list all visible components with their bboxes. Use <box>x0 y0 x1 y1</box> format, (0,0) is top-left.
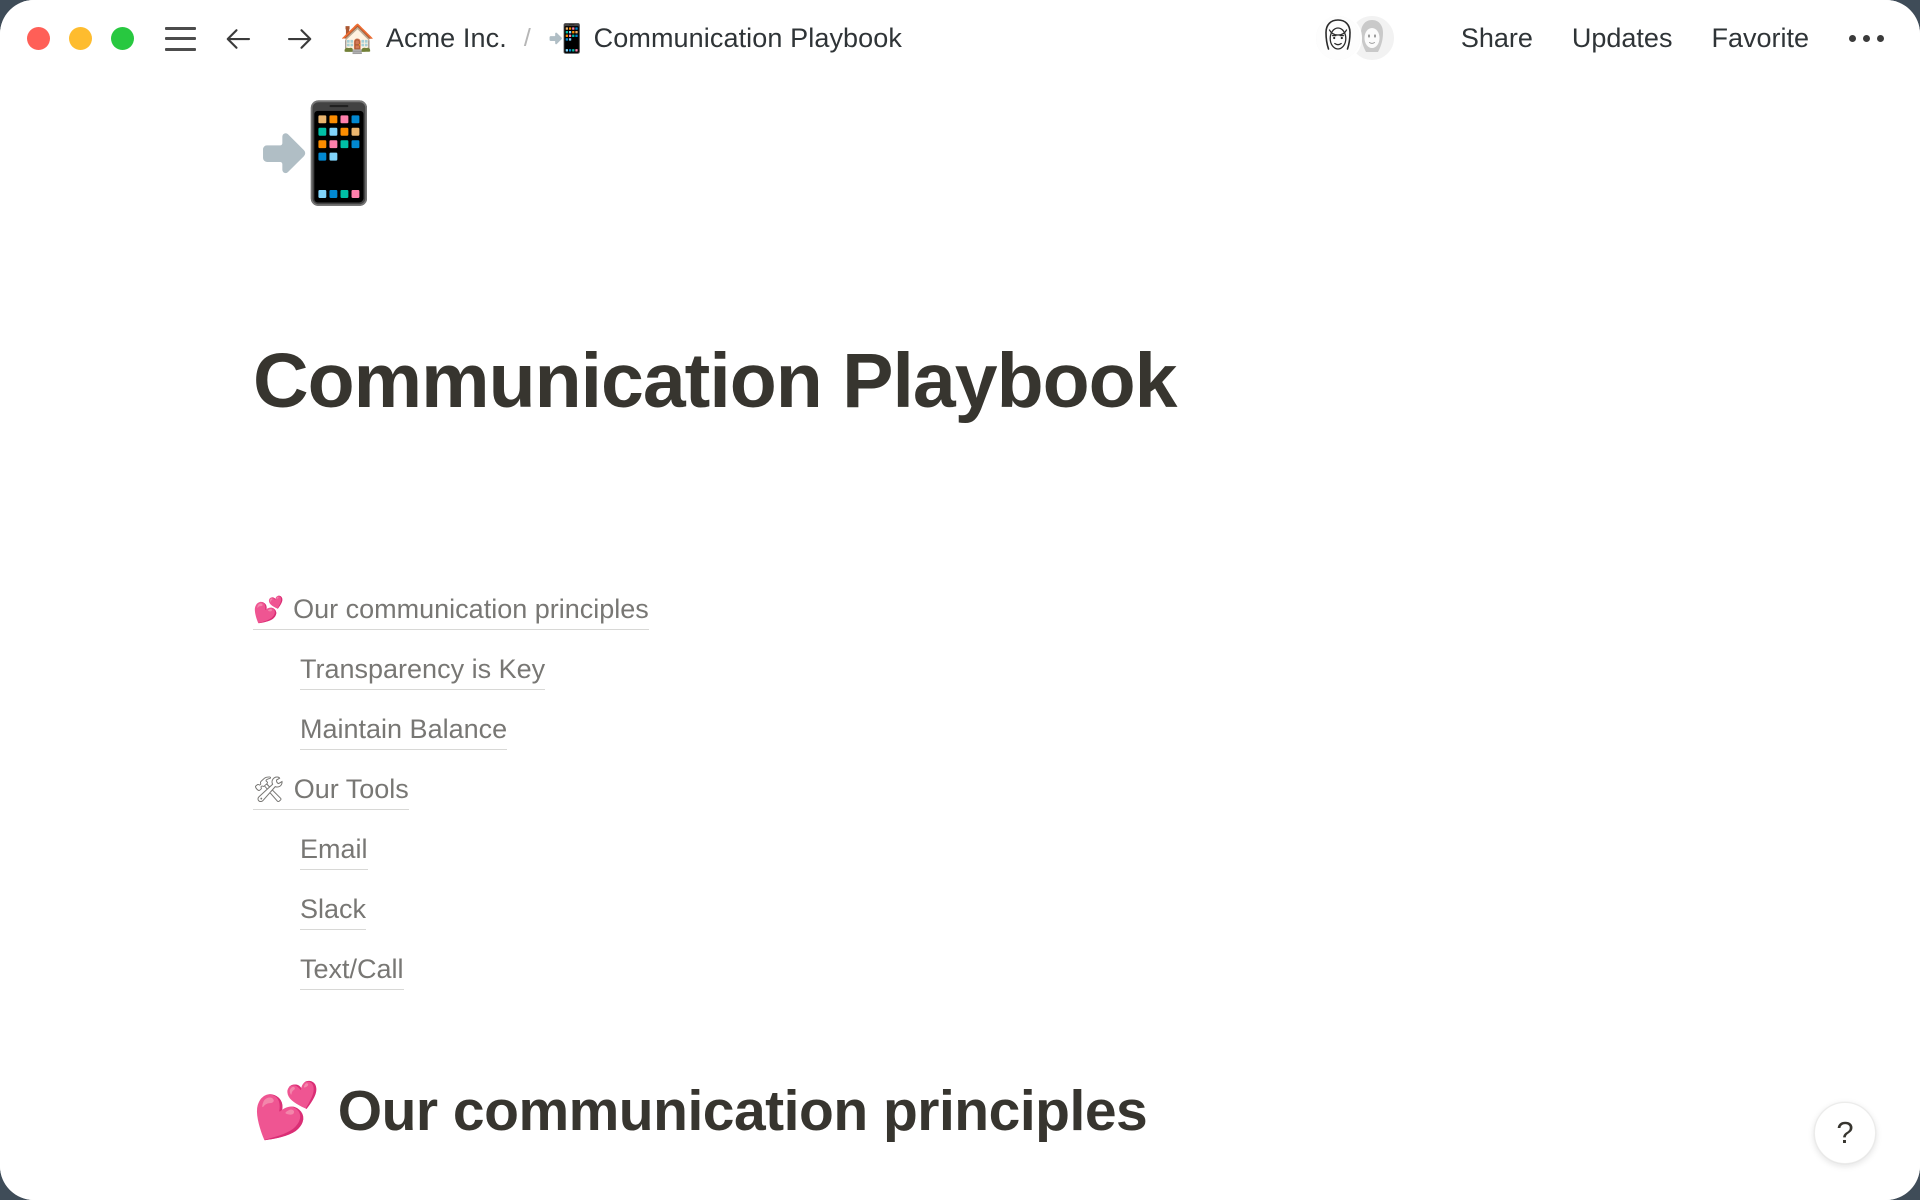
hammer-and-wrench-emoji: 🛠 <box>253 777 285 802</box>
help-button[interactable]: ? <box>1814 1102 1876 1164</box>
two-hearts-emoji: 💕 <box>253 1084 320 1138</box>
breadcrumb-label-page: Communication Playbook <box>594 23 902 54</box>
app-window: 🏠 Acme Inc. / 📲 Communication Playbook <box>0 0 1920 1200</box>
page-content: 📲 Communication Playbook 💕 Our communica… <box>0 77 1920 1200</box>
breadcrumb-label-workspace: Acme Inc. <box>386 23 507 54</box>
more-options-icon[interactable] <box>1847 27 1886 50</box>
list-item: Maintain Balance <box>253 702 1153 762</box>
updates-button[interactable]: Updates <box>1568 17 1677 60</box>
list-item: Transparency is Key <box>253 642 1153 702</box>
list-item: 🛠 Our Tools <box>253 762 1153 822</box>
top-bar: 🏠 Acme Inc. / 📲 Communication Playbook <box>0 0 1920 77</box>
two-hearts-emoji: 💕 <box>253 597 284 622</box>
hamburger-menu-icon[interactable] <box>165 27 196 51</box>
toc-label: Our Tools <box>294 774 409 805</box>
breadcrumb-separator: / <box>524 24 531 53</box>
avatar-member-1[interactable] <box>1314 14 1362 62</box>
toc-link-transparency-is-key[interactable]: Transparency is Key <box>300 654 545 689</box>
toc-link-text-call[interactable]: Text/Call <box>300 954 404 989</box>
avatar-group[interactable] <box>1314 14 1400 64</box>
toc-link-email[interactable]: Email <box>300 834 368 869</box>
list-item: 💕 Our communication principles <box>253 582 1153 642</box>
mobile-phone-with-arrow-emoji: 📲 <box>548 25 583 53</box>
breadcrumb-item-workspace[interactable]: 🏠 Acme Inc. <box>340 23 507 54</box>
page-icon-mobile-phone-with-arrow-emoji[interactable]: 📲 <box>256 105 376 201</box>
table-of-contents: 💕 Our communication principles Transpare… <box>253 582 1153 1002</box>
toc-label: Our communication principles <box>293 594 649 625</box>
top-bar-actions: Share Updates Favorite <box>1314 14 1886 64</box>
maximize-window-button[interactable] <box>111 27 134 50</box>
breadcrumb-item-page[interactable]: 📲 Communication Playbook <box>548 23 902 54</box>
toc-link-slack[interactable]: Slack <box>300 894 366 929</box>
page-title[interactable]: Communication Playbook <box>253 343 1177 420</box>
toc-link-our-communication-principles[interactable]: 💕 Our communication principles <box>253 594 649 629</box>
toc-link-our-tools[interactable]: 🛠 Our Tools <box>253 774 409 809</box>
list-item: Text/Call <box>253 942 1153 1002</box>
section-heading-our-communication-principles: 💕 Our communication principles <box>253 1077 1147 1145</box>
toc-link-maintain-balance[interactable]: Maintain Balance <box>300 714 507 749</box>
list-item: Slack <box>253 882 1153 942</box>
favorite-button[interactable]: Favorite <box>1707 17 1813 60</box>
arrow-left-icon[interactable] <box>222 22 256 56</box>
close-window-button[interactable] <box>27 27 50 50</box>
list-item: Email <box>253 822 1153 882</box>
section-heading-label: Our communication principles <box>338 1077 1147 1145</box>
window-controls <box>27 27 134 50</box>
arrow-right-icon[interactable] <box>282 22 316 56</box>
house-emoji: 🏠 <box>340 25 375 53</box>
minimize-window-button[interactable] <box>69 27 92 50</box>
share-button[interactable]: Share <box>1457 17 1537 60</box>
